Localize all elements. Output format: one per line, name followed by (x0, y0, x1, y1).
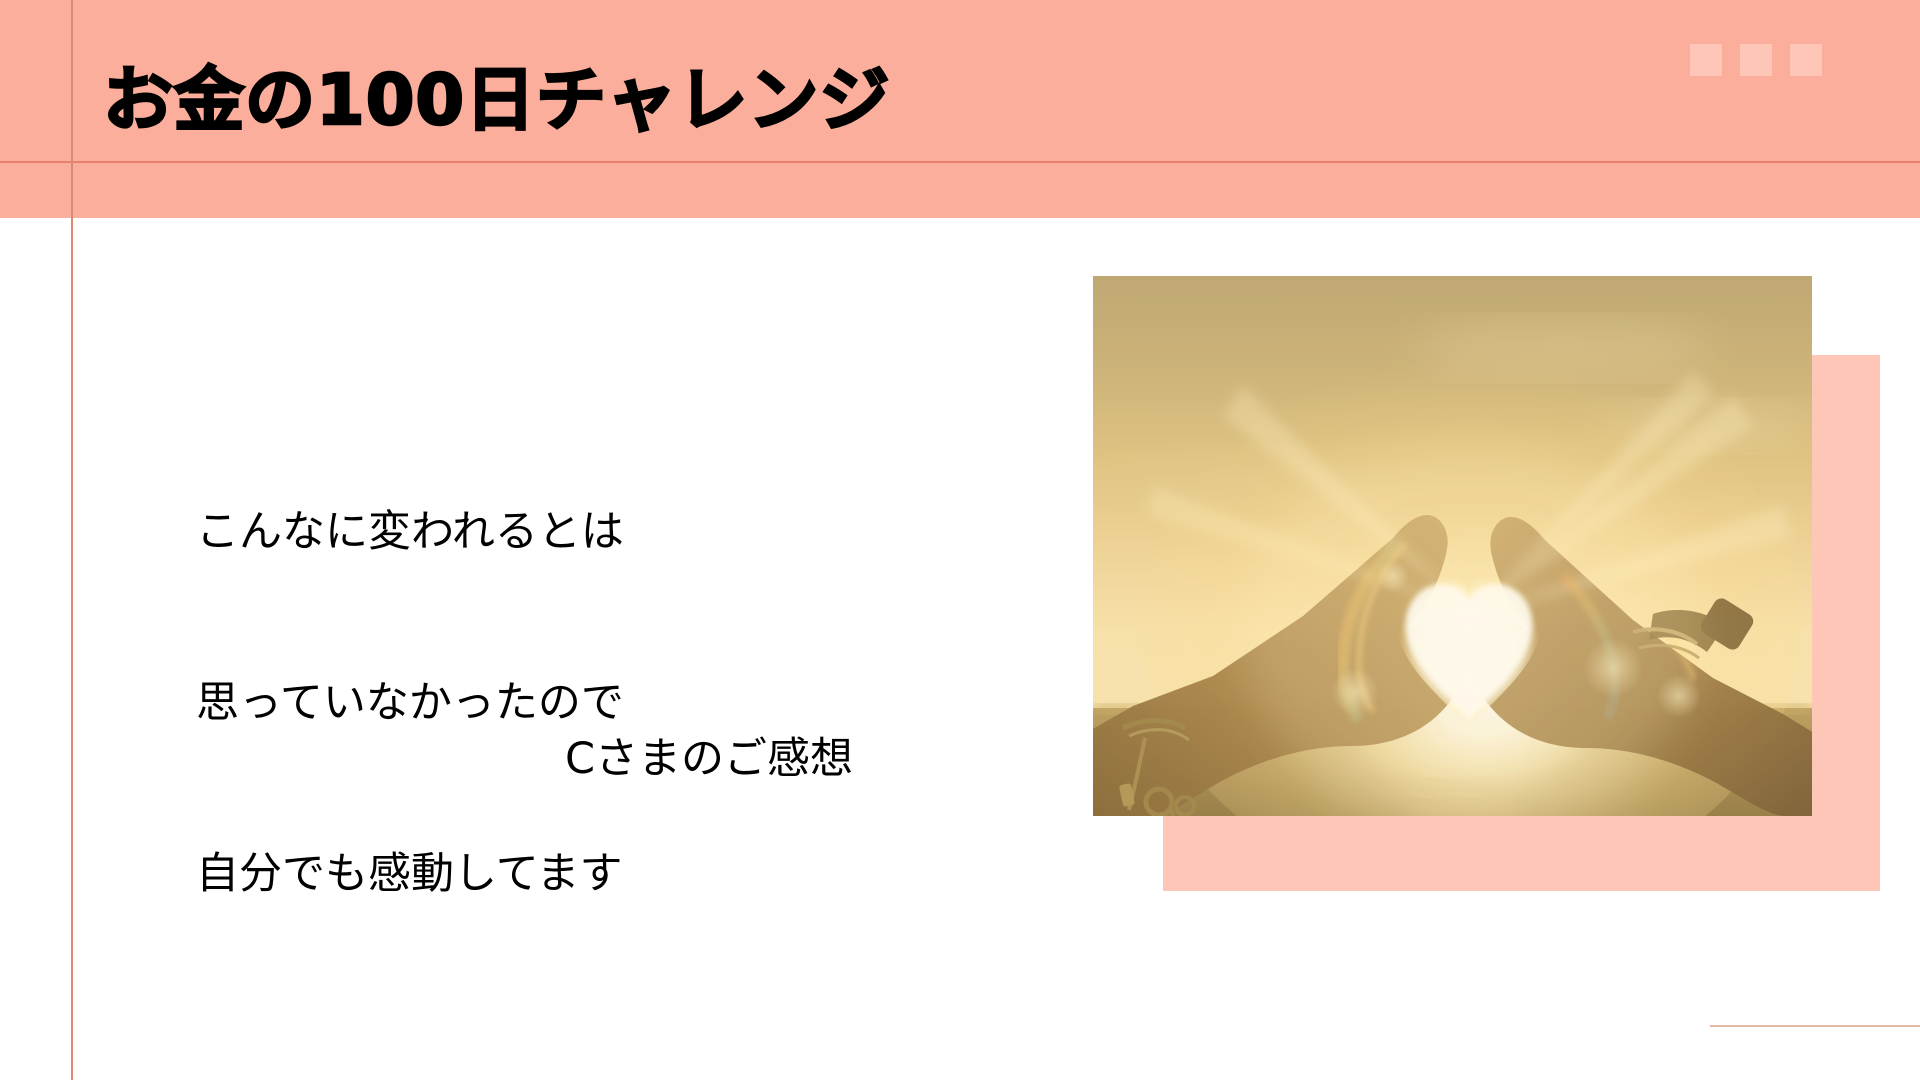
bottom-accent-rule (1710, 1025, 1920, 1027)
page-title: お金の100日チャレンジ (103, 52, 1303, 148)
body-text-line-1: こんなに変われるとは (196, 504, 916, 561)
header-decoration-squares (1690, 44, 1870, 76)
header-divider-rule (0, 161, 1920, 163)
decor-square-2-icon (1740, 44, 1772, 76)
body-text-line-2: 思っていなかったので (196, 675, 916, 732)
left-accent-rule (71, 0, 73, 1080)
heart-hands-sunset-photo (1093, 276, 1812, 816)
decor-square-3-icon (1790, 44, 1822, 76)
body-text-line-3: 自分でも感動してます (196, 846, 916, 903)
header-band: お金の100日チャレンジ (0, 0, 1920, 218)
testimonial-caption: Cさまのご感想 (565, 730, 853, 788)
slide-canvas: お金の100日チャレンジ こんなに変われるとは 思っていなかったので 自分でも感… (0, 0, 1920, 1080)
body-text-block: こんなに変われるとは 思っていなかったので 自分でも感動してます (196, 390, 916, 1017)
photo-artwork (1093, 276, 1812, 816)
decor-square-1-icon (1690, 44, 1722, 76)
